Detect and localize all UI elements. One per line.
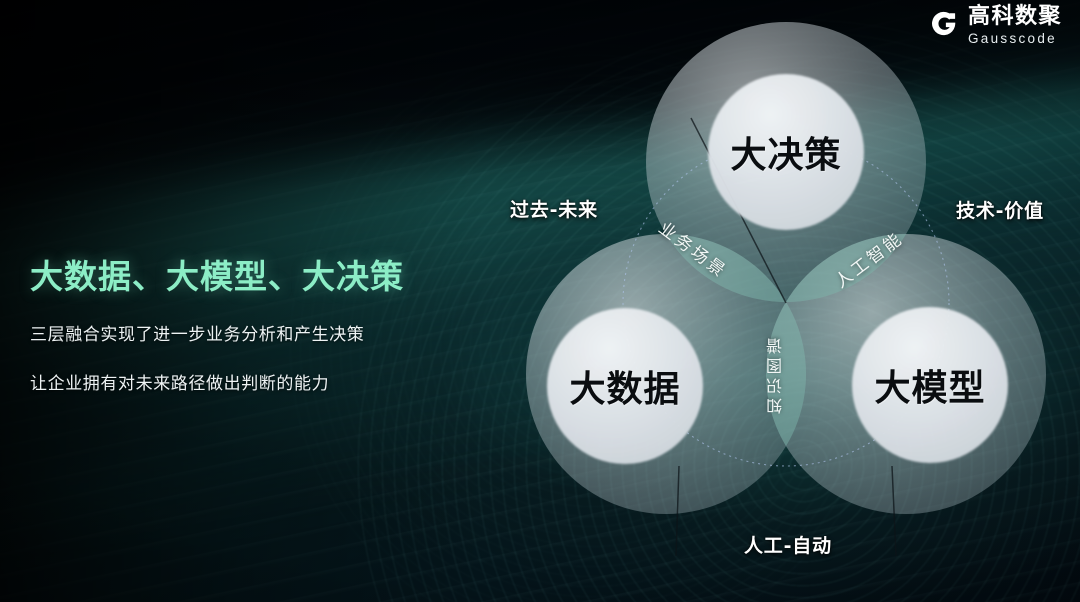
brand-logo-text: 高科数聚 Gausscode	[968, 6, 1062, 46]
brand-logo: 高科数聚 Gausscode	[929, 6, 1062, 46]
venn-intersection-label-knowledge-graph: 知识图谱	[764, 334, 790, 414]
venn-core-label-model: 大模型	[874, 359, 985, 411]
venn-diagram	[440, 0, 1080, 602]
headline-block: 大数据、大模型、大决策 三层融合实现了进一步业务分析和产生决策 让企业拥有对未来…	[30, 250, 470, 394]
venn-core-label-bigdata: 大数据	[569, 360, 680, 412]
axis-label-technology-value: 技术-价值	[956, 196, 1044, 223]
subtitle-line-2: 让企业拥有对未来路径做出判断的能力	[30, 369, 470, 394]
brand-name-cn: 高科数聚	[968, 6, 1062, 28]
brand-name-en: Gausscode	[968, 32, 1057, 46]
slide-canvas: 大决策 大数据 大模型 业务场景 人工智能 知识图谱 过去-未来 技术-价值 人…	[0, 0, 1080, 602]
axis-label-manual-automatic: 人工-自动	[744, 531, 832, 558]
subtitle-line-1: 三层融合实现了进一步业务分析和产生决策	[30, 320, 470, 345]
axis-label-past-future: 过去-未来	[510, 195, 598, 222]
venn-core-label-decision: 大决策	[730, 126, 841, 178]
page-title: 大数据、大模型、大决策	[30, 250, 470, 298]
gausscode-g-mark-icon	[929, 9, 959, 39]
